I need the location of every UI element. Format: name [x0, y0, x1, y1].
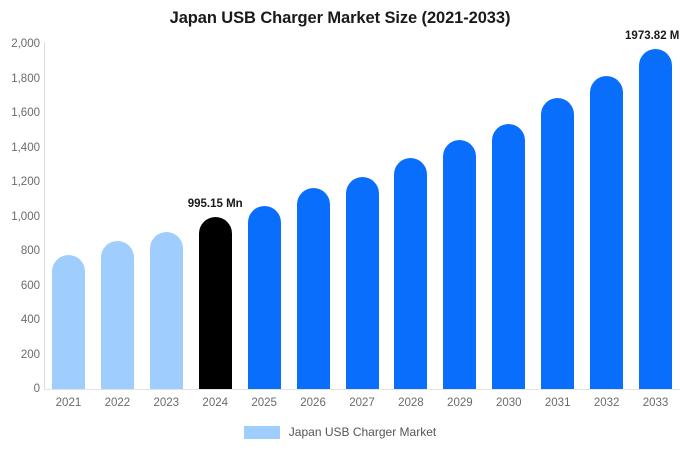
- plot-area: [44, 44, 680, 389]
- bar-2021[interactable]: [52, 255, 85, 389]
- legend-swatch-japan-usb-charger-market: [244, 426, 280, 439]
- chart-title: Japan USB Charger Market Size (2021-2033…: [0, 9, 680, 28]
- x-axis-tick-label-2024: 2024: [191, 397, 239, 409]
- y-axis-tick-label: 200: [4, 349, 40, 361]
- bar-2031[interactable]: [541, 98, 574, 389]
- data-label-2024: 995.15 Mn: [188, 198, 243, 210]
- bar-2030[interactable]: [492, 124, 525, 389]
- x-axis-tick-label-2033: 2033: [632, 397, 680, 409]
- y-axis-tick-label: 800: [4, 245, 40, 257]
- bar-2028[interactable]: [394, 158, 427, 389]
- x-axis-tick-label-2023: 2023: [142, 397, 190, 409]
- y-axis-tick-label: 2,000: [4, 38, 40, 50]
- legend-label-japan-usb-charger-market: Japan USB Charger Market: [289, 425, 436, 439]
- bar-2023[interactable]: [150, 232, 183, 389]
- x-axis-tick-label-2026: 2026: [289, 397, 337, 409]
- bar-2022[interactable]: [101, 241, 134, 389]
- x-axis-tick-label-2025: 2025: [240, 397, 288, 409]
- y-axis-tick-label: 0: [4, 383, 40, 395]
- chart-legend: Japan USB Charger Market: [0, 425, 680, 439]
- x-axis-tick-label-2028: 2028: [387, 397, 435, 409]
- bar-2032[interactable]: [590, 76, 623, 389]
- y-axis-tick-label: 1,600: [4, 107, 40, 119]
- x-axis-tick-label-2030: 2030: [485, 397, 533, 409]
- x-axis-tick-label-2027: 2027: [338, 397, 386, 409]
- x-axis-tick-label-2022: 2022: [93, 397, 141, 409]
- bar-2025[interactable]: [248, 206, 281, 389]
- x-axis-tick-label-2021: 2021: [44, 397, 92, 409]
- y-axis-tick-label: 1,200: [4, 176, 40, 188]
- data-label-2033: 1973.82 Mn: [625, 30, 680, 42]
- bar-2029[interactable]: [443, 140, 476, 389]
- y-axis-tick-label: 1,400: [4, 142, 40, 154]
- bar-2026[interactable]: [297, 188, 330, 389]
- y-axis-tick-label: 1,800: [4, 73, 40, 85]
- y-axis: 02004006008001,0001,2001,4001,6001,8002,…: [0, 0, 40, 450]
- x-axis-line: [44, 389, 680, 390]
- chart-container: Japan USB Charger Market Size (2021-2033…: [0, 0, 680, 450]
- y-axis-tick-label: 1,000: [4, 211, 40, 223]
- x-axis-tick-label-2032: 2032: [583, 397, 631, 409]
- x-axis-tick-label-2031: 2031: [534, 397, 582, 409]
- bar-2024[interactable]: [199, 217, 232, 389]
- bar-2033[interactable]: [639, 49, 672, 389]
- y-axis-tick-label: 400: [4, 314, 40, 326]
- bar-2027[interactable]: [346, 177, 379, 389]
- y-axis-tick-label: 600: [4, 280, 40, 292]
- x-axis-tick-label-2029: 2029: [436, 397, 484, 409]
